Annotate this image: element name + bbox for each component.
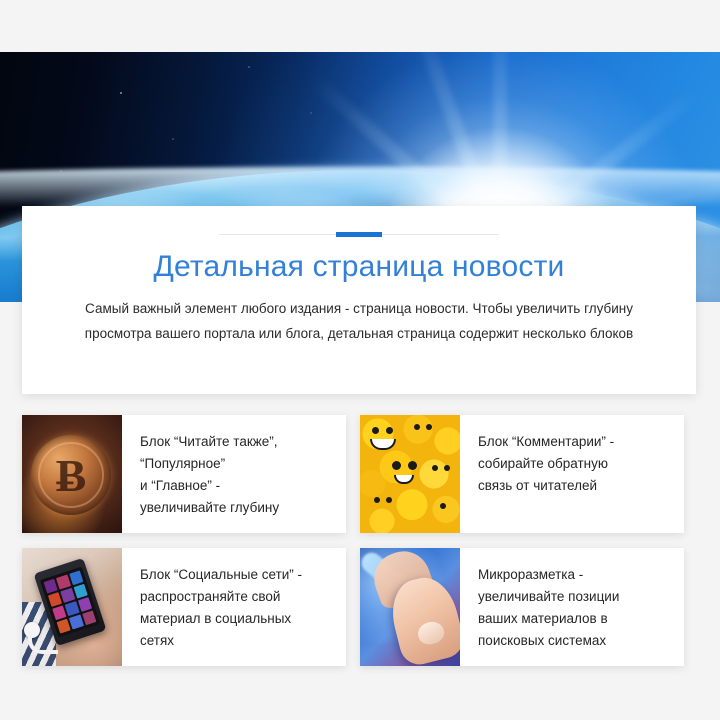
- card-line: сетях: [140, 630, 332, 652]
- emoji-stickers-thumbnail: [360, 415, 460, 533]
- feature-card-read-also[interactable]: Ƀ Блок “Читайте также”, “Популярное” и “…: [22, 415, 346, 533]
- card-line: распространяйте свой: [140, 586, 332, 608]
- feature-card-comments[interactable]: Блок “Комментарии” - собирайте обратную …: [360, 415, 684, 533]
- card-line: поисковых системах: [478, 630, 670, 652]
- intro-card: Детальная страница новости Самый важный …: [22, 206, 696, 394]
- feature-card-text: Блок “Комментарии” - собирайте обратную …: [460, 415, 684, 533]
- feature-card-text: Микроразметка - увеличивайте позиции ваш…: [460, 548, 684, 666]
- hand-phone-thumbnail: [22, 548, 122, 666]
- page-title: Детальная страница новости: [22, 250, 696, 284]
- card-line: связь от читателей: [478, 475, 670, 497]
- intro-paragraph: Самый важный элемент любого издания - ст…: [68, 296, 650, 346]
- page-root: Детальная страница новости Самый важный …: [0, 0, 720, 720]
- divider-accent-bar: [336, 232, 382, 237]
- feature-card-text: Блок “Социальные сети” - распространяйте…: [122, 548, 346, 666]
- card-line: увеличивайте глубину: [140, 497, 332, 519]
- feature-card-social-networks[interactable]: Блок “Социальные сети” - распространяйте…: [22, 548, 346, 666]
- finger-touch-thumbnail: [360, 548, 460, 666]
- card-line: и “Главное” -: [140, 475, 332, 497]
- section-divider: [219, 232, 499, 238]
- feature-card-text: Блок “Читайте также”, “Популярное” и “Гл…: [122, 415, 346, 533]
- feature-card-microdata[interactable]: Микроразметка - увеличивайте позиции ваш…: [360, 548, 684, 666]
- card-line: ваших материалов в: [478, 608, 670, 630]
- card-line: Блок “Читайте также”,: [140, 431, 332, 453]
- card-line: Блок “Комментарии” -: [478, 431, 670, 453]
- card-line: материал в социальных: [140, 608, 332, 630]
- card-line: собирайте обратную: [478, 453, 670, 475]
- card-line: Блок “Социальные сети” -: [140, 564, 332, 586]
- bitcoin-coin-thumbnail: Ƀ: [22, 415, 122, 533]
- card-line: “Популярное”: [140, 453, 332, 475]
- card-line: Микроразметка -: [478, 564, 670, 586]
- bitcoin-symbol: Ƀ: [31, 435, 111, 515]
- card-line: увеличивайте позиции: [478, 586, 670, 608]
